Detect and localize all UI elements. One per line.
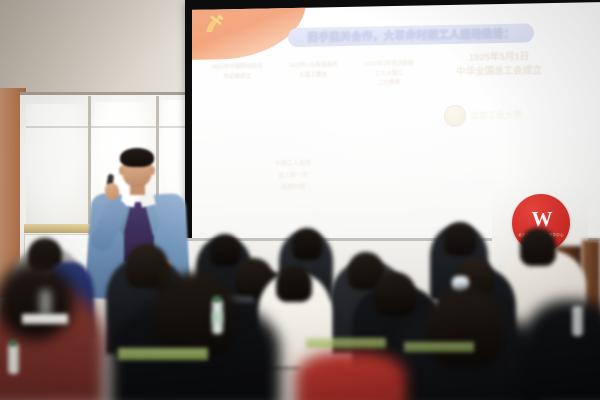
slide-center-note-line-3: 高潮时期	[238, 181, 348, 195]
slide-column-1: 1921年中国劳动组合 书记部成立	[206, 62, 268, 92]
red-logo-mark: W	[532, 209, 551, 230]
ceiling	[0, 0, 190, 96]
slide-title-banner: 携手团共合作，大革命时期工人运动推进：	[288, 23, 534, 47]
desk-edge-left	[118, 348, 208, 360]
slide-organization-logo: 北京工业大学	[444, 99, 554, 131]
speaker-hair	[120, 148, 154, 167]
audience-head-white-coat	[520, 228, 556, 266]
desk-edge-center	[306, 338, 386, 348]
slide-column-3: 1923年2月京汉铁路 工人大罢工 二七惨案	[358, 60, 420, 90]
audience-head-back-3	[210, 234, 240, 266]
foreground-head-right	[428, 288, 504, 368]
water-bottle-4	[40, 290, 51, 316]
window-pane-1	[26, 104, 88, 224]
foreground-red-coat	[296, 352, 406, 400]
water-bottle-cap-1	[213, 296, 221, 302]
slide-column-2-line-2: 大罢工爆发	[282, 70, 344, 81]
audience-head-mid-2	[374, 272, 416, 316]
speaker-ear-right	[150, 166, 155, 175]
slide-timeline-columns: 1921年中国劳动组合 书记部成立 1922年1月香港海员 大罢工爆发 1923…	[206, 59, 426, 92]
audience-head-white-hoodie	[276, 266, 312, 302]
screenshot-scene: 携手团共合作，大革命时期工人运动推进： 1925年5月1日 中华全国总工会成立 …	[0, 0, 600, 400]
slide-column-3-line-1: 1923年2月京汉铁路	[358, 60, 420, 71]
slide-center-note: 中国工人运动 进入第一次 高潮时期	[238, 157, 348, 195]
hammer-and-sickle-icon	[202, 12, 228, 38]
notebook-paper	[22, 314, 68, 324]
audience-head-back-1	[444, 222, 476, 256]
speaker-ear-left	[119, 166, 124, 175]
slide-column-2: 1922年1月香港海员 大罢工爆发	[282, 61, 344, 91]
audience-head-back-2	[292, 228, 322, 260]
desk-edge-right	[404, 342, 474, 352]
water-bottle-label-1	[212, 312, 223, 323]
slide-title-text: 携手团共合作，大革命时期工人运动推进：	[307, 26, 514, 45]
university-seal-icon	[444, 105, 466, 127]
foreground-person-far-right	[520, 300, 600, 400]
slide-date-block: 1925年5月1日 中华全国总工会成立	[440, 50, 558, 81]
slide-column-3-line-3: 二七惨案	[358, 79, 420, 90]
window-mullion-horizontal	[26, 126, 202, 128]
slide-column-2-line-1: 1922年1月香港海员	[282, 61, 344, 72]
water-bottle-3	[572, 306, 583, 336]
water-bottle-cap-2	[9, 340, 17, 346]
slide-organization-name: 北京工业大学	[471, 109, 522, 122]
slide-column-1-line-2: 书记部成立	[206, 72, 268, 83]
window-frame-top	[20, 92, 200, 95]
slide-column-1-line-1: 1921年中国劳动组合	[206, 62, 268, 73]
foreground-head-center	[154, 272, 236, 358]
water-bottle-2	[8, 344, 19, 374]
slide-date-line-2: 中华全国总工会成立	[440, 64, 558, 81]
